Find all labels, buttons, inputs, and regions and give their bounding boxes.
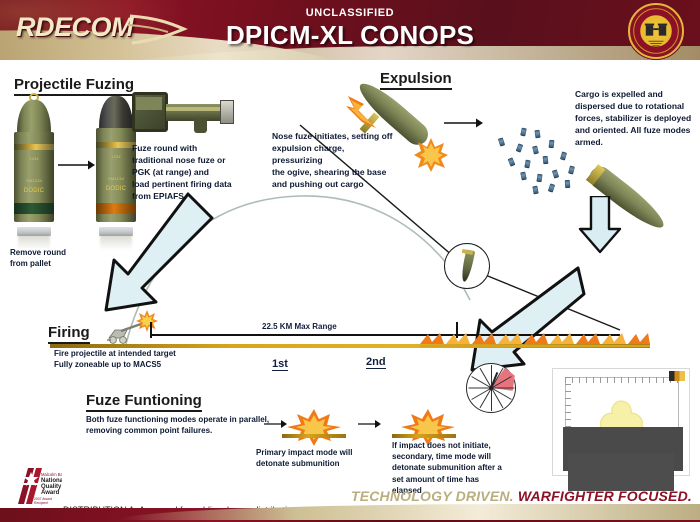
page-title: DPICM-XL CONOPS bbox=[0, 20, 700, 51]
section-title-fuze-functioning: Fuze Funtioning bbox=[86, 392, 202, 412]
section-title-firing: Firing bbox=[48, 324, 90, 344]
burst-icon-expulsion bbox=[414, 138, 448, 172]
big-arrow-down-icon bbox=[578, 196, 622, 254]
sim-color-legend bbox=[669, 371, 685, 381]
arrow-right-icon-fuzing bbox=[58, 158, 96, 172]
sim-ground-block bbox=[568, 453, 674, 491]
caption-fuze-functioning: Both fuze functioning modes operate in p… bbox=[86, 414, 276, 436]
slide-canvas: RDECOM UNCLASSIFIED DPICM-XL CONOPS bbox=[0, 0, 700, 522]
tagline-primary: TECHNOLOGY DRIVEN. bbox=[351, 488, 514, 504]
ordinal-second-label: 2nd bbox=[366, 356, 386, 369]
caption-remove-round: Remove round from pallet bbox=[10, 247, 100, 269]
slide-footer-bar bbox=[0, 508, 700, 522]
svg-text:Recipient: Recipient bbox=[34, 501, 48, 505]
tagline-secondary: WARFIGHTER FOCUSED. bbox=[518, 488, 692, 504]
svg-text:Malcolm Baldrige: Malcolm Baldrige bbox=[41, 472, 62, 477]
range-label: 22.5 KM Max Range bbox=[262, 322, 337, 331]
ordinal-first-label: 1st bbox=[272, 358, 288, 371]
svg-text:Award: Award bbox=[41, 490, 60, 496]
caption-primary-mode: Primary impact mode will detonate submun… bbox=[256, 447, 376, 469]
burst-icon-primary bbox=[286, 408, 342, 446]
caption-firing: Fire projectile at intended target Fully… bbox=[54, 348, 274, 370]
range-tick-start bbox=[150, 322, 152, 338]
slide-header: RDECOM UNCLASSIFIED DPICM-XL CONOPS bbox=[0, 0, 700, 60]
projectile-round-pallet: 1234 XM1234 DODIC bbox=[14, 100, 54, 236]
flame-icon bbox=[336, 88, 380, 132]
national-quality-award-logo: Malcolm Baldrige National Quality Award … bbox=[14, 464, 62, 508]
rdecom-tagline: TECHNOLOGY DRIVEN. WARFIGHTER FOCUSED. bbox=[351, 488, 692, 504]
muzzle-burst-icon bbox=[136, 310, 158, 332]
ardec-seal-icon bbox=[628, 3, 684, 59]
classification-banner: UNCLASSIFIED bbox=[0, 7, 700, 19]
arrow-right-icon-primary bbox=[264, 418, 288, 430]
section-title-expulsion: Expulsion bbox=[380, 70, 452, 90]
arrow-right-icon-expulsion bbox=[444, 116, 484, 130]
big-arrow-downleft-icon bbox=[96, 192, 216, 316]
caption-expulsion: Nose fuze initiates, setting off expulsi… bbox=[272, 130, 394, 190]
epiafs-fuze-setter-device bbox=[132, 88, 238, 142]
impact-flames bbox=[420, 330, 650, 350]
primary-impact-burst bbox=[286, 408, 342, 446]
arrow-right-icon-secondary bbox=[358, 418, 382, 430]
detail-magnifier-circle bbox=[444, 243, 490, 289]
timer-clock-icon bbox=[466, 363, 516, 413]
